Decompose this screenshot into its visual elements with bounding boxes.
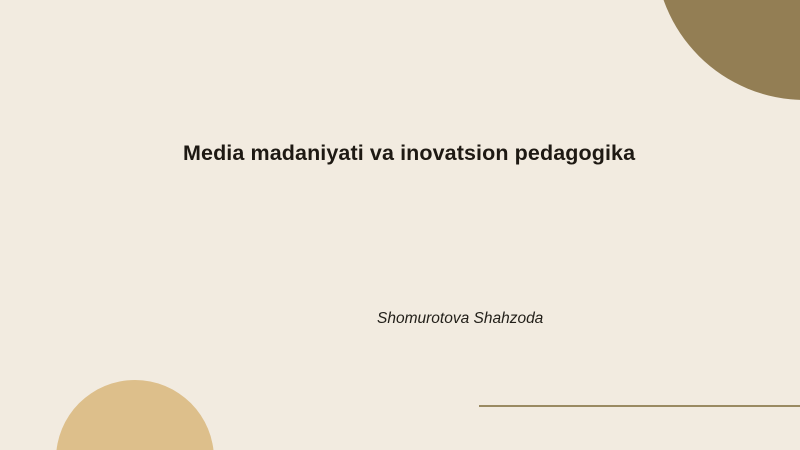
circle-decoration-top-right-icon <box>655 0 800 100</box>
page-title: Media madaniyati va inovatsion pedagogik… <box>183 140 703 166</box>
presentation-slide: Media madaniyati va inovatsion pedagogik… <box>0 0 800 450</box>
horizontal-accent-rule <box>479 405 800 407</box>
circle-decoration-bottom-left-icon <box>56 380 214 450</box>
author-name: Shomurotova Shahzoda <box>377 308 543 330</box>
